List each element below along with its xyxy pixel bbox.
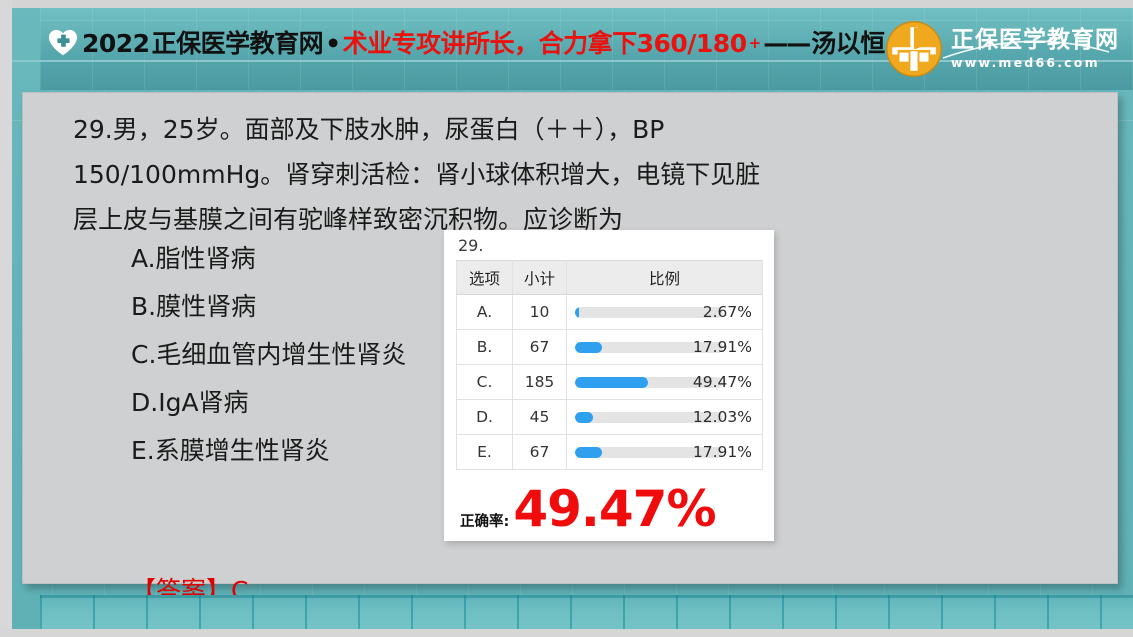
- accuracy-row: 正确率: 49.47%: [460, 486, 716, 534]
- header-banner: 2022 正保医学教育网 • 术业专攻讲所长，合力拿下360/180 + —— …: [40, 8, 1133, 90]
- banner-title: 2022 正保医学教育网 • 术业专攻讲所长，合力拿下360/180 + —— …: [48, 28, 885, 58]
- cell-proportion: 17.91%: [567, 330, 763, 365]
- option-a[interactable]: A.脂性肾病: [131, 235, 406, 283]
- table-header-row: 选项 小计 比例: [457, 261, 763, 295]
- bar-fill: [575, 307, 579, 318]
- table-row: B.6717.91%: [457, 330, 763, 365]
- proportion-bar: 49.47%: [575, 365, 752, 399]
- cell-proportion: 12.03%: [567, 400, 763, 435]
- option-d[interactable]: D.IgA肾病: [131, 379, 406, 427]
- option-list: A.脂性肾病 B.膜性肾病 C.毛细血管内增生性肾炎 D.IgA肾病 E.系膜增…: [131, 235, 406, 475]
- footer-strip-grid: [40, 595, 1133, 629]
- table-row: A.102.67%: [457, 295, 763, 330]
- stats-question-number: 29.: [458, 236, 483, 255]
- cell-count: 185: [513, 365, 567, 400]
- banner-year: 2022: [82, 31, 150, 56]
- bar-percent-label: 12.03%: [693, 408, 752, 426]
- cell-option: A.: [457, 295, 513, 330]
- banner-separator: •: [325, 31, 340, 56]
- cell-count: 10: [513, 295, 567, 330]
- cell-proportion: 2.67%: [567, 295, 763, 330]
- header-option: 选项: [457, 261, 513, 295]
- accuracy-value: 49.47%: [513, 486, 715, 534]
- accuracy-label: 正确率:: [460, 510, 509, 531]
- bar-percent-label: 17.91%: [693, 443, 752, 461]
- table-row: E.6717.91%: [457, 435, 763, 470]
- bar-percent-label: 2.67%: [703, 303, 752, 321]
- bar-percent-label: 49.47%: [693, 373, 752, 391]
- bar-fill: [575, 342, 602, 353]
- option-e[interactable]: E.系膜增生性肾炎: [131, 427, 406, 475]
- proportion-bar: 2.67%: [575, 295, 752, 329]
- cell-option: D.: [457, 400, 513, 435]
- question-line-2: 150/100mmHg。肾穿刺活检：肾小球体积增大，电镜下见脏: [73, 152, 873, 197]
- cross-circle-logo-icon: [885, 20, 943, 78]
- slide-edge-left: [0, 0, 12, 637]
- bar-track: [575, 307, 723, 318]
- banner-lecturer: 汤以恒: [811, 31, 885, 56]
- banner-slogan-superscript: +: [749, 34, 762, 52]
- cell-option: C.: [457, 365, 513, 400]
- header-count: 小计: [513, 261, 567, 295]
- bar-fill: [575, 447, 602, 458]
- cell-option: B.: [457, 330, 513, 365]
- brand-logo[interactable]: 正保医学教育网 www.med66.com: [885, 20, 1119, 78]
- bar-fill: [575, 412, 593, 423]
- table-row: D.4512.03%: [457, 400, 763, 435]
- cell-option: E.: [457, 435, 513, 470]
- logo-arc-decoration: [941, 34, 1111, 60]
- statistics-table: 选项 小计 比例 A.102.67%B.6717.91%C.18549.47%D…: [456, 260, 763, 470]
- slide-edge-top: [0, 0, 1133, 8]
- bar-percent-label: 17.91%: [693, 338, 752, 356]
- banner-slogan: 术业专攻讲所长，合力拿下360/180: [343, 31, 747, 56]
- proportion-bar: 17.91%: [575, 435, 752, 469]
- statistics-table-body: A.102.67%B.6717.91%C.18549.47%D.4512.03%…: [457, 295, 763, 470]
- footer-strip: [40, 595, 1133, 629]
- option-b[interactable]: B.膜性肾病: [131, 283, 406, 331]
- banner-dash: ——: [763, 31, 809, 56]
- option-c[interactable]: C.毛细血管内增生性肾炎: [131, 331, 406, 379]
- heart-plus-icon: [48, 28, 78, 58]
- slide-edge-bottom: [0, 629, 1133, 637]
- question-text: 29.男，25岁。面部及下肢水肿，尿蛋白（＋＋），BP 150/100mmHg。…: [73, 107, 873, 242]
- banner-site-name: 正保医学教育网: [152, 31, 324, 56]
- cell-count: 67: [513, 330, 567, 365]
- cell-count: 45: [513, 400, 567, 435]
- proportion-bar: 17.91%: [575, 330, 752, 364]
- slide-stage: 2022 正保医学教育网 • 术业专攻讲所长，合力拿下360/180 + —— …: [0, 0, 1133, 637]
- proportion-bar: 12.03%: [575, 400, 752, 434]
- cell-proportion: 17.91%: [567, 435, 763, 470]
- slide-content-panel: 29.男，25岁。面部及下肢水肿，尿蛋白（＋＋），BP 150/100mmHg。…: [22, 92, 1118, 584]
- cell-count: 67: [513, 435, 567, 470]
- bar-fill: [575, 377, 648, 388]
- statistics-card: 29. 选项 小计 比例 A.102.67%B.6717.91%C.18549.…: [444, 230, 774, 541]
- table-row: C.18549.47%: [457, 365, 763, 400]
- cell-proportion: 49.47%: [567, 365, 763, 400]
- question-line-1: 29.男，25岁。面部及下肢水肿，尿蛋白（＋＋），BP: [73, 107, 873, 152]
- header-proportion: 比例: [567, 261, 763, 295]
